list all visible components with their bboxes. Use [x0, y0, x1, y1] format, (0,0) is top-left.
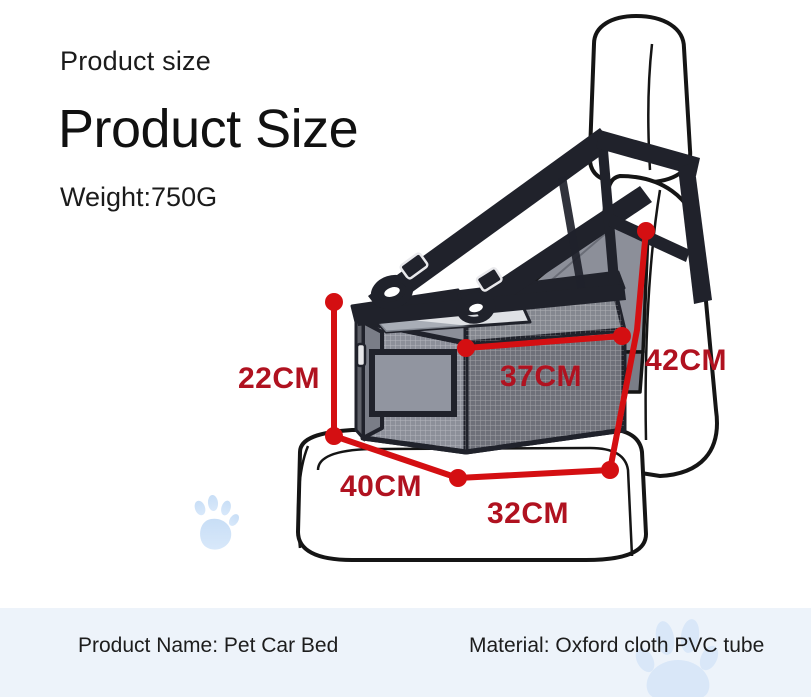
dimension-label-40cm: 40CM [340, 470, 422, 504]
footer-product-name: Product Name: Pet Car Bed [78, 634, 338, 658]
product-size-infographic: Product size Product Size Weight:750G [0, 0, 811, 697]
paw-print-watermark [193, 495, 241, 550]
product-illustration [0, 0, 811, 620]
dimension-label-22cm: 22CM [238, 362, 320, 396]
dimension-label-37cm: 37CM [500, 360, 582, 394]
dimension-label-42cm: 42CM [645, 344, 727, 378]
dimension-label-32cm: 32CM [487, 497, 569, 531]
bed-side-panel-detail [357, 344, 454, 414]
footer-material: Material: Oxford cloth PVC tube [469, 634, 764, 658]
